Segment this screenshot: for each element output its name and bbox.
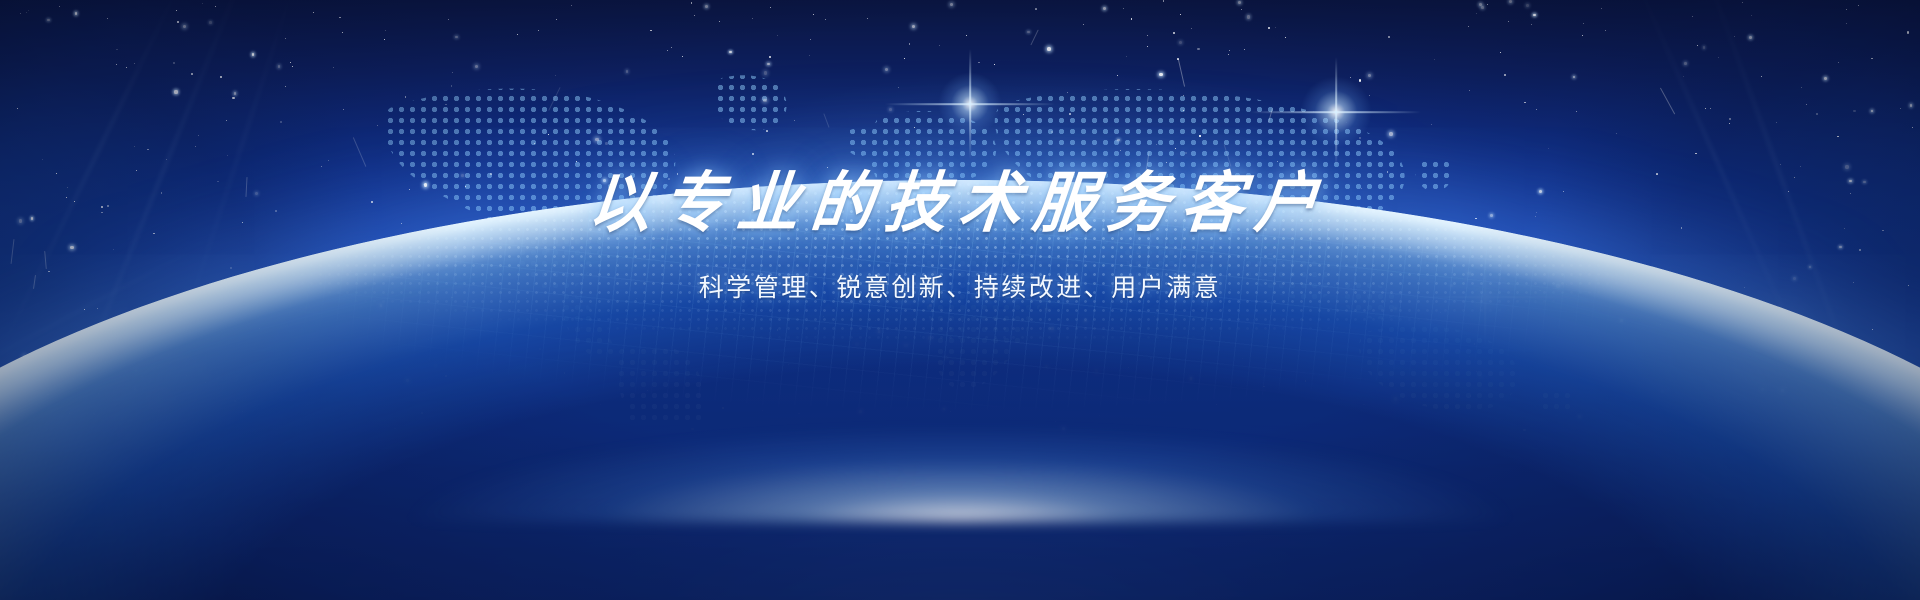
hero-banner: 以专业的技术服务客户 科学管理、锐意创新、持续改进、用户满意	[0, 0, 1920, 600]
lens-flare-icon	[938, 72, 1002, 136]
lens-flare-icon	[1300, 76, 1372, 148]
banner-subheadline: 科学管理、锐意创新、持续改进、用户满意	[699, 268, 1222, 304]
banner-headline: 以专业的技术服务客户	[585, 149, 1335, 244]
